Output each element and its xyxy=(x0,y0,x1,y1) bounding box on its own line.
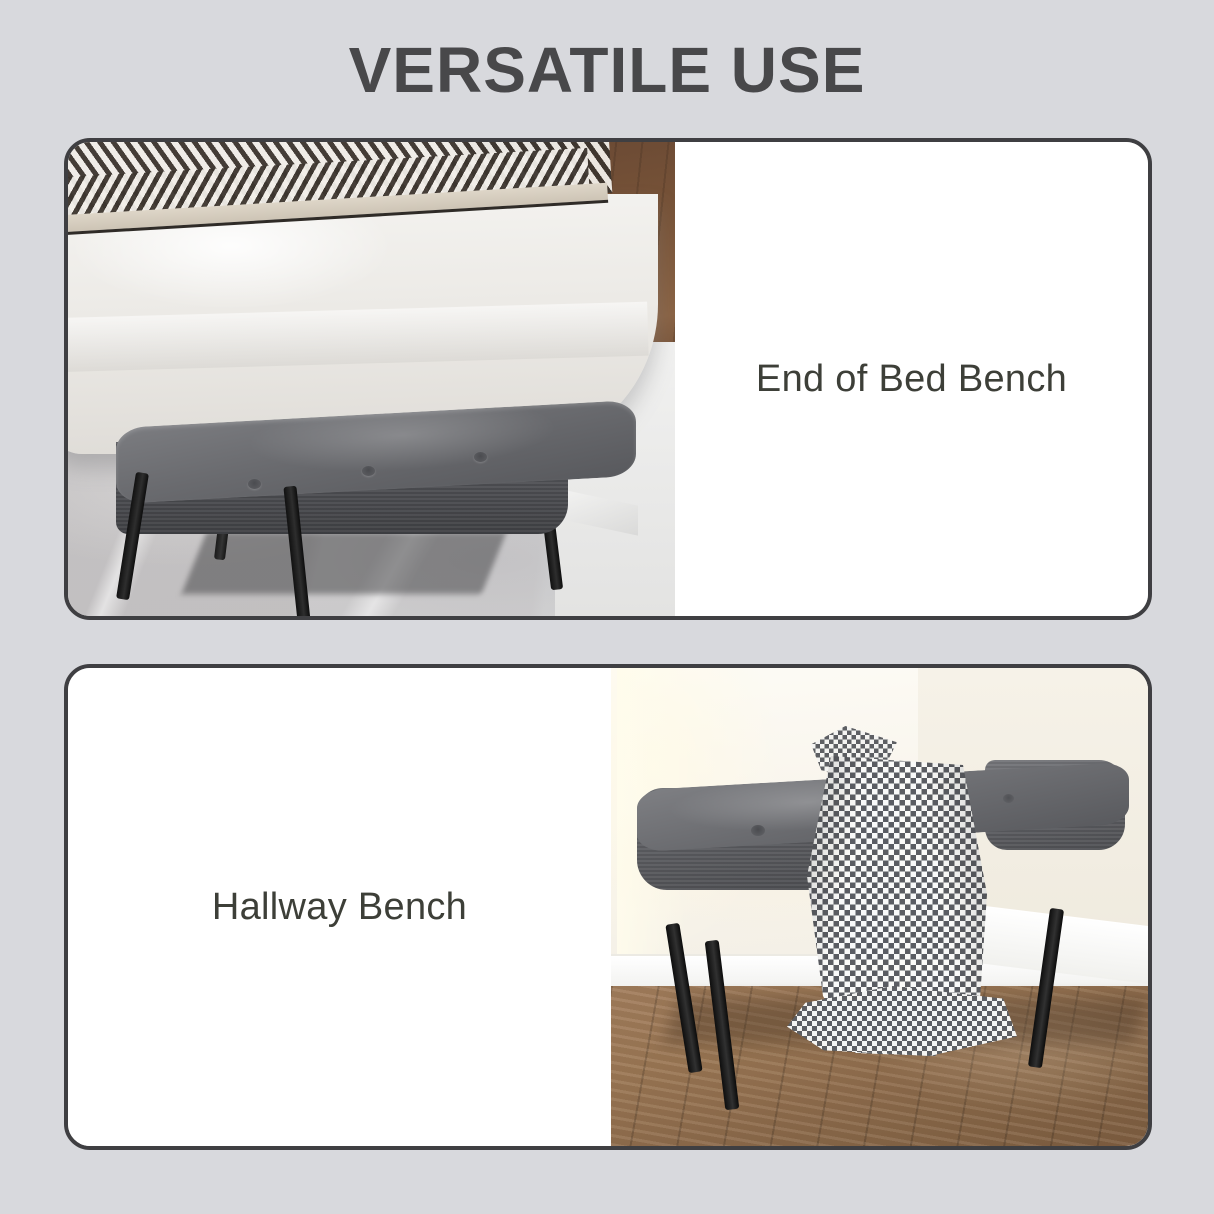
photo-end-of-bed-bench xyxy=(68,142,675,616)
label-pane-hallway-bench: Hallway Bench xyxy=(68,668,611,1146)
bench-shadow xyxy=(181,532,506,594)
caption-hallway-bench: Hallway Bench xyxy=(212,886,467,929)
card-hallway-bench: Hallway Bench xyxy=(64,664,1152,1150)
photo-hallway-bench xyxy=(611,668,1148,1146)
bench-tuft-button xyxy=(362,466,375,476)
bench-tuft-button xyxy=(751,825,765,836)
bench-tuft-button xyxy=(248,479,261,489)
bedroom-scene xyxy=(68,142,675,616)
page-title: VERSATILE USE xyxy=(0,28,1214,112)
caption-end-of-bed-bench: End of Bed Bench xyxy=(756,358,1067,401)
bench-tuft-button xyxy=(1003,794,1014,803)
bench-tuft-button xyxy=(474,452,487,462)
card-end-of-bed-bench: End of Bed Bench xyxy=(64,138,1152,620)
hallway-scene xyxy=(611,668,1148,1146)
label-pane-end-of-bed-bench: End of Bed Bench xyxy=(675,142,1148,616)
